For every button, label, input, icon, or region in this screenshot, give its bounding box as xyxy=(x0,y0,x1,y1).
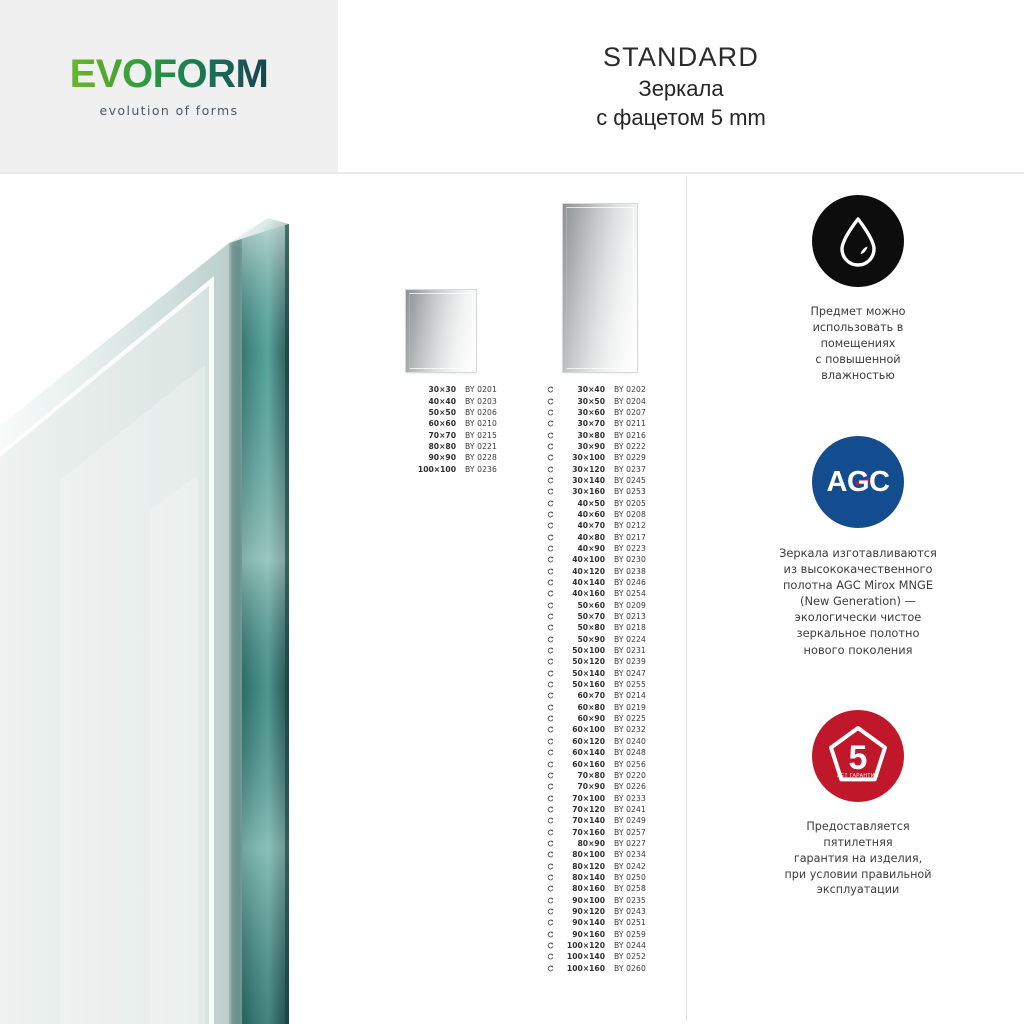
size-row[interactable]: 100×120BY 0244 xyxy=(545,940,663,951)
size-article-code: BY 0226 xyxy=(605,782,646,791)
rotate-icon xyxy=(545,545,555,552)
size-dimensions: 40×70 xyxy=(555,521,605,530)
size-dimensions: 40×90 xyxy=(555,544,605,553)
size-dimensions: 80×120 xyxy=(555,862,605,871)
size-article-code: BY 0247 xyxy=(605,669,646,678)
size-article-code: BY 0238 xyxy=(605,567,646,576)
rotate-icon xyxy=(545,420,555,427)
size-article-code: BY 0256 xyxy=(605,760,646,769)
size-dimensions: 50×70 xyxy=(555,612,605,621)
page-header: EVOFORM evolution of forms STANDARD Зерк… xyxy=(0,0,1024,172)
size-article-code: BY 0250 xyxy=(605,873,646,882)
size-article-code: BY 0214 xyxy=(605,691,646,700)
size-dimensions: 30×120 xyxy=(555,465,605,474)
rotate-icon xyxy=(545,772,555,779)
rotate-icon xyxy=(545,488,555,495)
size-row[interactable]: 60×80BY 0219 xyxy=(545,702,663,713)
size-dimensions: 30×100 xyxy=(555,453,605,462)
size-row[interactable]: 30×40BY 0202 xyxy=(545,384,663,395)
size-article-code: BY 0249 xyxy=(605,816,646,825)
size-article-code: BY 0231 xyxy=(605,646,646,655)
rotate-icon xyxy=(545,806,555,813)
brand-tagline: evolution of forms xyxy=(100,103,239,118)
rotate-icon xyxy=(545,783,555,790)
size-dimensions: 40×80 xyxy=(555,533,605,542)
rotate-icon xyxy=(545,590,555,597)
size-row[interactable]: 40×50BY 0205 xyxy=(545,497,663,508)
size-article-code: BY 0232 xyxy=(605,725,646,734)
size-article-code: BY 0211 xyxy=(605,419,646,428)
size-article-code: BY 0227 xyxy=(605,839,646,848)
rotate-icon xyxy=(545,840,555,847)
rotate-icon xyxy=(545,522,555,529)
size-article-code: BY 0206 xyxy=(456,408,497,417)
size-dimensions: 40×120 xyxy=(555,567,605,576)
size-row[interactable]: 90×100BY 0235 xyxy=(545,894,663,905)
size-article-code: BY 0244 xyxy=(605,941,646,950)
rotate-icon xyxy=(545,738,555,745)
size-row[interactable]: 30×160BY 0253 xyxy=(545,486,663,497)
rotate-icon xyxy=(545,658,555,665)
size-article-code: BY 0218 xyxy=(605,623,646,632)
size-row[interactable]: 30×60BY 0207 xyxy=(545,407,663,418)
size-article-code: BY 0217 xyxy=(605,533,646,542)
size-article-code: BY 0237 xyxy=(605,465,646,474)
size-article-code: BY 0252 xyxy=(605,952,646,961)
rectangular-mirror-swatch xyxy=(562,203,638,373)
size-article-code: BY 0203 xyxy=(456,397,497,406)
size-article-code: BY 0242 xyxy=(605,862,646,871)
rotate-icon xyxy=(545,919,555,926)
size-article-code: BY 0220 xyxy=(605,771,646,780)
size-dimensions: 70×100 xyxy=(555,794,605,803)
size-article-code: BY 0251 xyxy=(605,918,646,927)
size-row[interactable]: 80×120BY 0242 xyxy=(545,860,663,871)
size-row[interactable]: 40×100BY 0230 xyxy=(545,554,663,565)
rotate-icon xyxy=(545,534,555,541)
size-dimensions: 70×160 xyxy=(555,828,605,837)
rotate-icon xyxy=(545,432,555,439)
glass-illustration xyxy=(0,180,340,1024)
size-article-code: BY 0202 xyxy=(605,385,646,394)
size-dimensions: 80×140 xyxy=(555,873,605,882)
size-row[interactable]: 70×70BY 0215 xyxy=(400,429,500,440)
size-row[interactable]: 30×100BY 0229 xyxy=(545,452,663,463)
size-row[interactable]: 50×120BY 0239 xyxy=(545,656,663,667)
rotate-icon xyxy=(545,931,555,938)
rotate-icon xyxy=(545,715,555,722)
rotate-icon xyxy=(545,386,555,393)
size-dimensions: 70×70 xyxy=(400,431,456,440)
size-article-code: BY 0255 xyxy=(605,680,646,689)
rotate-icon xyxy=(545,761,555,768)
feature-warranty: 5 ЛЕТ ГАРАНТИИ Предоставляется пятилетня… xyxy=(740,710,976,899)
size-row[interactable]: 50×100BY 0231 xyxy=(545,645,663,656)
size-dimensions: 60×60 xyxy=(400,419,456,428)
size-dimensions: 50×60 xyxy=(555,601,605,610)
size-row[interactable]: 60×140BY 0248 xyxy=(545,747,663,758)
size-article-code: BY 0254 xyxy=(605,589,646,598)
rotate-icon xyxy=(545,500,555,507)
size-dimensions: 60×100 xyxy=(555,725,605,734)
size-row[interactable]: 70×90BY 0226 xyxy=(545,781,663,792)
size-row[interactable]: 30×70BY 0211 xyxy=(545,418,663,429)
size-article-code: BY 0258 xyxy=(605,884,646,893)
size-row[interactable]: 70×120BY 0241 xyxy=(545,804,663,815)
size-dimensions: 40×50 xyxy=(555,499,605,508)
page-title: STANDARD xyxy=(603,40,759,75)
rotate-icon xyxy=(545,908,555,915)
size-row[interactable]: 80×80BY 0221 xyxy=(400,441,500,452)
catalog-page: EVOFORM evolution of forms STANDARD Зерк… xyxy=(0,0,1024,1024)
size-dimensions: 60×90 xyxy=(555,714,605,723)
size-article-code: BY 0248 xyxy=(605,748,646,757)
size-article-code: BY 0241 xyxy=(605,805,646,814)
rotate-icon xyxy=(545,636,555,643)
size-row[interactable]: 40×90BY 0223 xyxy=(545,543,663,554)
size-dimensions: 50×50 xyxy=(400,408,456,417)
feature-agc-glass: AGC Зеркала изготавливаются из высококач… xyxy=(740,436,976,658)
rotate-icon xyxy=(545,851,555,858)
page-subtitle-line-2: с фацетом 5 mm xyxy=(596,103,766,132)
size-row[interactable]: 50×140BY 0247 xyxy=(545,668,663,679)
rotate-icon xyxy=(545,874,555,881)
size-dimensions: 30×50 xyxy=(555,397,605,406)
size-row[interactable]: 40×120BY 0238 xyxy=(545,566,663,577)
size-article-code: BY 0201 xyxy=(456,385,497,394)
size-row[interactable]: 90×160BY 0259 xyxy=(545,929,663,940)
size-dimensions: 80×160 xyxy=(555,884,605,893)
rotate-icon xyxy=(545,965,555,972)
size-article-code: BY 0221 xyxy=(456,442,497,451)
brand-logo-panel: EVOFORM evolution of forms xyxy=(0,0,338,172)
size-dimensions: 30×60 xyxy=(555,408,605,417)
rotate-icon xyxy=(545,863,555,870)
size-row[interactable]: 80×100BY 0234 xyxy=(545,849,663,860)
size-row[interactable]: 30×80BY 0216 xyxy=(545,429,663,440)
header-divider xyxy=(0,172,1024,174)
size-row[interactable]: 30×90BY 0222 xyxy=(545,441,663,452)
size-dimensions: 40×100 xyxy=(555,555,605,564)
rotate-icon xyxy=(545,897,555,904)
size-dimensions: 90×100 xyxy=(555,896,605,905)
size-article-code: BY 0215 xyxy=(456,431,497,440)
size-row[interactable]: 80×140BY 0250 xyxy=(545,872,663,883)
size-row[interactable]: 30×120BY 0237 xyxy=(545,463,663,474)
size-dimensions: 80×100 xyxy=(555,850,605,859)
size-article-code: BY 0216 xyxy=(605,431,646,440)
size-dimensions: 60×140 xyxy=(555,748,605,757)
size-dimensions: 90×160 xyxy=(555,930,605,939)
svg-text:5: 5 xyxy=(849,739,868,777)
size-row[interactable]: 60×70BY 0214 xyxy=(545,690,663,701)
size-row[interactable]: 70×140BY 0249 xyxy=(545,815,663,826)
rotate-icon xyxy=(545,726,555,733)
size-dimensions: 50×120 xyxy=(555,657,605,666)
rotate-icon xyxy=(545,681,555,688)
square-sizes-table: 30×30BY 020140×40BY 020350×50BY 020660×6… xyxy=(400,384,500,475)
size-article-code: BY 0228 xyxy=(456,453,497,462)
rotate-icon xyxy=(545,454,555,461)
rotate-icon xyxy=(545,443,555,450)
size-article-code: BY 0205 xyxy=(605,499,646,508)
size-row[interactable]: 60×100BY 0232 xyxy=(545,724,663,735)
rotate-icon xyxy=(545,568,555,575)
size-row[interactable]: 60×120BY 0240 xyxy=(545,736,663,747)
size-article-code: BY 0245 xyxy=(605,476,646,485)
size-article-code: BY 0233 xyxy=(605,794,646,803)
feature-moisture-text: Предмет можно использовать в помещениях … xyxy=(740,304,976,384)
size-article-code: BY 0210 xyxy=(456,419,497,428)
rotate-icon xyxy=(545,953,555,960)
size-row[interactable]: 50×160BY 0255 xyxy=(545,679,663,690)
rectangular-sizes-table: 30×40BY 020230×50BY 020430×60BY 020730×7… xyxy=(545,384,663,974)
size-dimensions: 40×140 xyxy=(555,578,605,587)
size-row[interactable]: 50×50BY 0206 xyxy=(400,407,500,418)
size-dimensions: 100×100 xyxy=(400,465,456,474)
size-row[interactable]: 30×140BY 0245 xyxy=(545,475,663,486)
rotate-icon xyxy=(545,795,555,802)
size-row[interactable]: 40×80BY 0217 xyxy=(545,531,663,542)
brand-wordmark: EVOFORM xyxy=(70,54,269,94)
rotate-icon xyxy=(545,624,555,631)
size-row[interactable]: 30×30BY 0201 xyxy=(400,384,500,395)
size-dimensions: 90×140 xyxy=(555,918,605,927)
size-article-code: BY 0204 xyxy=(605,397,646,406)
size-article-code: BY 0240 xyxy=(605,737,646,746)
page-subtitle-line-1: Зеркала xyxy=(638,74,723,103)
size-article-code: BY 0259 xyxy=(605,930,646,939)
size-dimensions: 80×90 xyxy=(555,839,605,848)
rotate-icon xyxy=(545,613,555,620)
size-dimensions: 60×160 xyxy=(555,760,605,769)
size-dimensions: 50×90 xyxy=(555,635,605,644)
rotate-icon xyxy=(545,602,555,609)
size-dimensions: 100×120 xyxy=(555,941,605,950)
size-dimensions: 30×70 xyxy=(555,419,605,428)
size-article-code: BY 0213 xyxy=(605,612,646,621)
size-dimensions: 40×60 xyxy=(555,510,605,519)
size-article-code: BY 0219 xyxy=(605,703,646,712)
rotate-icon xyxy=(545,692,555,699)
water-drop-icon xyxy=(812,195,904,287)
svg-text:AGC: AGC xyxy=(827,466,891,498)
size-article-code: BY 0222 xyxy=(605,442,646,451)
size-article-code: BY 0260 xyxy=(605,964,646,973)
size-dimensions: 50×100 xyxy=(555,646,605,655)
size-dimensions: 90×120 xyxy=(555,907,605,916)
size-article-code: BY 0246 xyxy=(605,578,646,587)
size-row[interactable]: 70×160BY 0257 xyxy=(545,826,663,837)
size-dimensions: 30×40 xyxy=(555,385,605,394)
size-article-code: BY 0225 xyxy=(605,714,646,723)
size-row[interactable]: 100×100BY 0236 xyxy=(400,463,500,474)
five-year-warranty-icon: 5 ЛЕТ ГАРАНТИИ xyxy=(812,710,904,802)
size-dimensions: 70×90 xyxy=(555,782,605,791)
size-article-code: BY 0239 xyxy=(605,657,646,666)
size-dimensions: 70×120 xyxy=(555,805,605,814)
rotate-icon xyxy=(545,647,555,654)
size-dimensions: 60×80 xyxy=(555,703,605,712)
size-row[interactable]: 60×60BY 0210 xyxy=(400,418,500,429)
size-row[interactable]: 40×140BY 0246 xyxy=(545,577,663,588)
size-row[interactable]: 100×140BY 0252 xyxy=(545,951,663,962)
size-row[interactable]: 30×50BY 0204 xyxy=(545,395,663,406)
size-dimensions: 30×90 xyxy=(555,442,605,451)
size-row[interactable]: 40×70BY 0212 xyxy=(545,520,663,531)
svg-text:ЛЕТ ГАРАНТИИ: ЛЕТ ГАРАНТИИ xyxy=(837,773,879,779)
feature-agc-text: Зеркала изготавливаются из высококачеств… xyxy=(740,545,976,658)
feature-warranty-text: Предоставляется пятилетняя гарантия на и… xyxy=(740,819,976,899)
size-dimensions: 70×140 xyxy=(555,816,605,825)
size-dimensions: 100×160 xyxy=(555,964,605,973)
size-article-code: BY 0243 xyxy=(605,907,646,916)
size-row[interactable]: 90×140BY 0251 xyxy=(545,917,663,928)
rotate-icon xyxy=(545,885,555,892)
rotate-icon xyxy=(545,556,555,563)
size-article-code: BY 0223 xyxy=(605,544,646,553)
rotate-icon xyxy=(545,670,555,677)
rotate-icon xyxy=(545,749,555,756)
rotate-icon xyxy=(545,511,555,518)
size-row[interactable]: 90×90BY 0228 xyxy=(400,452,500,463)
rotate-icon xyxy=(545,817,555,824)
size-row[interactable]: 100×160BY 0260 xyxy=(545,963,663,974)
size-dimensions: 80×80 xyxy=(400,442,456,451)
rotate-icon xyxy=(545,477,555,484)
size-article-code: BY 0224 xyxy=(605,635,646,644)
size-dimensions: 60×70 xyxy=(555,691,605,700)
size-row[interactable]: 60×90BY 0225 xyxy=(545,713,663,724)
size-row[interactable]: 70×80BY 0220 xyxy=(545,770,663,781)
size-article-code: BY 0235 xyxy=(605,896,646,905)
size-article-code: BY 0257 xyxy=(605,828,646,837)
size-row[interactable]: 80×90BY 0227 xyxy=(545,838,663,849)
size-article-code: BY 0236 xyxy=(456,465,497,474)
size-article-code: BY 0229 xyxy=(605,453,646,462)
size-row[interactable]: 50×60BY 0209 xyxy=(545,600,663,611)
size-dimensions: 30×30 xyxy=(400,385,456,394)
size-dimensions: 30×140 xyxy=(555,476,605,485)
size-dimensions: 50×160 xyxy=(555,680,605,689)
size-dimensions: 60×120 xyxy=(555,737,605,746)
size-dimensions: 30×80 xyxy=(555,431,605,440)
size-row[interactable]: 40×160BY 0254 xyxy=(545,588,663,599)
features-column-divider xyxy=(686,176,687,1021)
size-article-code: BY 0234 xyxy=(605,850,646,859)
rotate-icon xyxy=(545,829,555,836)
title-panel: STANDARD Зеркала с фацетом 5 mm xyxy=(338,0,1024,172)
size-row[interactable]: 50×90BY 0224 xyxy=(545,634,663,645)
features-column: Предмет можно использовать в помещениях … xyxy=(740,195,976,898)
size-article-code: BY 0208 xyxy=(605,510,646,519)
size-article-code: BY 0253 xyxy=(605,487,646,496)
rotate-icon xyxy=(545,704,555,711)
rotate-icon xyxy=(545,466,555,473)
size-row[interactable]: 50×80BY 0218 xyxy=(545,622,663,633)
size-dimensions: 100×140 xyxy=(555,952,605,961)
rotate-icon xyxy=(545,409,555,416)
size-row[interactable]: 70×100BY 0233 xyxy=(545,792,663,803)
size-article-code: BY 0230 xyxy=(605,555,646,564)
rotate-icon xyxy=(545,398,555,405)
rotate-icon xyxy=(545,942,555,949)
beveled-glass-edge-photo xyxy=(0,180,340,1024)
size-row[interactable]: 60×160BY 0256 xyxy=(545,758,663,769)
size-article-code: BY 0209 xyxy=(605,601,646,610)
size-row[interactable]: 40×40BY 0203 xyxy=(400,395,500,406)
agc-logo-icon: AGC xyxy=(812,436,904,528)
size-dimensions: 50×80 xyxy=(555,623,605,632)
rotate-icon xyxy=(545,579,555,586)
size-article-code: BY 0207 xyxy=(605,408,646,417)
size-row[interactable]: 50×70BY 0213 xyxy=(545,611,663,622)
size-dimensions: 90×90 xyxy=(400,453,456,462)
size-dimensions: 40×40 xyxy=(400,397,456,406)
size-row[interactable]: 40×60BY 0208 xyxy=(545,509,663,520)
square-mirror-swatch xyxy=(405,289,477,373)
size-dimensions: 30×160 xyxy=(555,487,605,496)
size-row[interactable]: 80×160BY 0258 xyxy=(545,883,663,894)
size-row[interactable]: 90×120BY 0243 xyxy=(545,906,663,917)
size-article-code: BY 0212 xyxy=(605,521,646,530)
size-dimensions: 50×140 xyxy=(555,669,605,678)
size-dimensions: 40×160 xyxy=(555,589,605,598)
feature-moisture-resistance: Предмет можно использовать в помещениях … xyxy=(740,195,976,384)
size-dimensions: 70×80 xyxy=(555,771,605,780)
